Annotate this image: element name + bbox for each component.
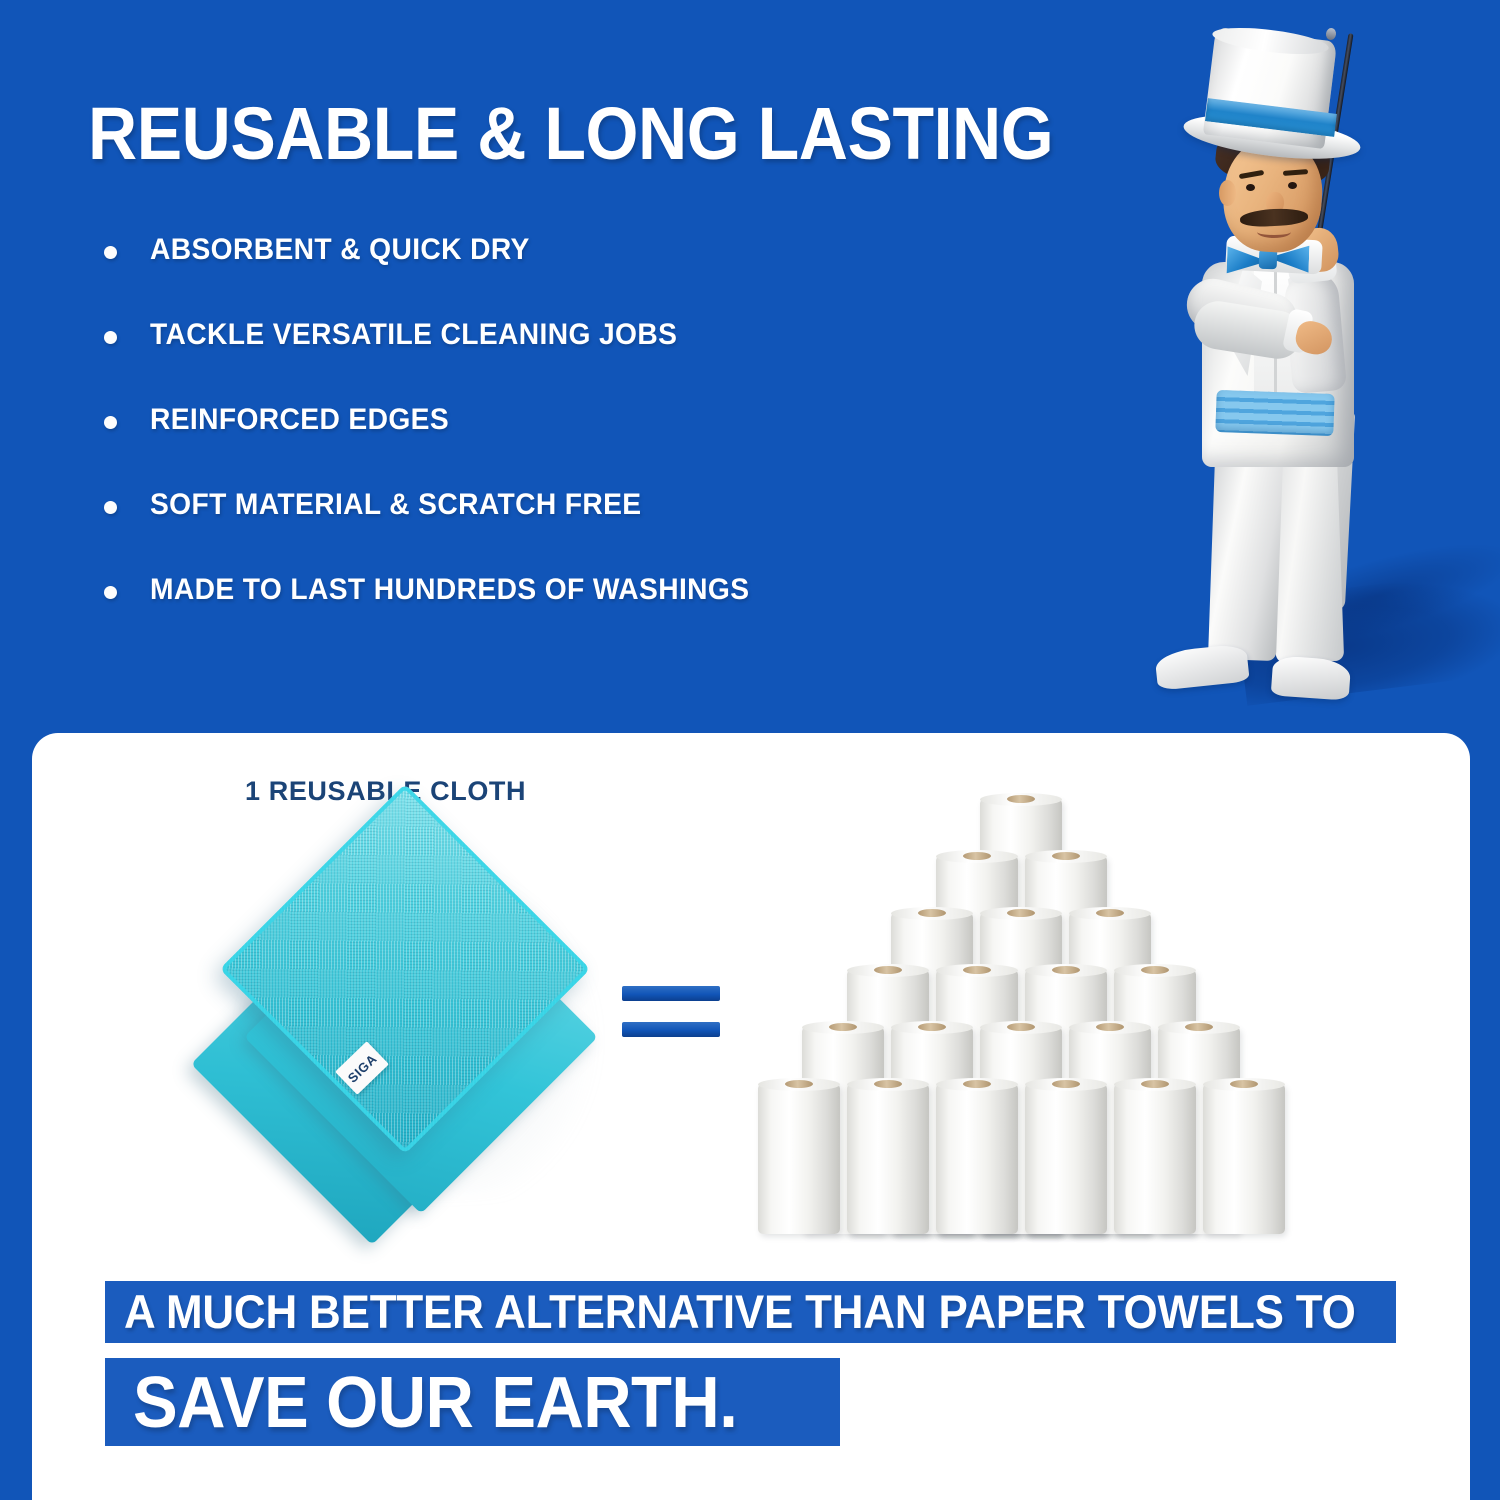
feature-item: SOFT MATERIAL & SCRATCH FREE: [96, 483, 1056, 568]
feature-label: SOFT MATERIAL & SCRATCH FREE: [150, 483, 641, 527]
feature-label: TACKLE VERSATILE CLEANING JOBS: [150, 313, 677, 357]
equals-bar-bottom: [622, 1022, 720, 1037]
feature-item: TACKLE VERSATILE CLEANING JOBS: [96, 313, 1056, 398]
banner-line-1-text: A MUCH BETTER ALTERNATIVE THAN PAPER TOW…: [124, 1284, 1356, 1340]
paper-towel-roll-core: [1052, 1080, 1080, 1088]
paper-towel-roll-core: [785, 1080, 813, 1088]
infographic-page: REUSABLE & LONG LASTING ABSORBENT & QUIC…: [0, 0, 1500, 1500]
hero-section: REUSABLE & LONG LASTING ABSORBENT & QUIC…: [0, 0, 1500, 735]
feature-label: MADE TO LAST HUNDREDS OF WASHINGS: [150, 568, 749, 612]
bullet-dot-icon: [104, 331, 117, 344]
feature-item: ABSORBENT & QUICK DRY: [96, 228, 1056, 313]
mascot-ear: [1219, 180, 1236, 206]
paper-towel-roll-core: [963, 966, 991, 974]
paper-towel-roll-core: [1230, 1080, 1258, 1088]
mascot-shoe-left: [1154, 643, 1249, 690]
blue-cummerbund: [1215, 390, 1334, 436]
paper-towel-roll-core: [1007, 1023, 1035, 1031]
paper-towel-roll-core: [1007, 909, 1035, 917]
paper-towel-roll-core: [918, 909, 946, 917]
bullet-dot-icon: [104, 586, 117, 599]
mascot-eye-left: [1246, 184, 1255, 191]
paper-towel-roll-core: [1096, 909, 1124, 917]
paper-towel-roll: [847, 1083, 929, 1234]
paper-towel-roll-core: [874, 1080, 902, 1088]
paper-towel-roll: [1114, 1083, 1196, 1234]
paper-towel-roll-core: [1096, 1023, 1124, 1031]
paper-towel-roll-core: [1141, 966, 1169, 974]
paper-towel-roll: [1025, 1083, 1107, 1234]
cane-tip-icon: [1325, 27, 1337, 40]
paper-towel-roll-core: [1052, 852, 1080, 860]
bullet-dot-icon: [104, 246, 117, 259]
paper-towel-roll-core: [829, 1023, 857, 1031]
paper-towel-pyramid: [756, 786, 1286, 1236]
bullet-dot-icon: [104, 416, 117, 429]
feature-item: MADE TO LAST HUNDREDS OF WASHINGS: [96, 568, 1056, 653]
mascot-illustration: [1120, 10, 1500, 710]
equals-sign-icon: [622, 976, 720, 1048]
banner-line-2: SAVE OUR EARTH.: [105, 1358, 840, 1446]
paper-towel-roll: [758, 1083, 840, 1234]
feature-label: REINFORCED EDGES: [150, 398, 449, 442]
page-title: REUSABLE & LONG LASTING: [88, 95, 1053, 173]
paper-towel-roll: [1203, 1083, 1285, 1234]
equals-bar-top: [622, 986, 720, 1001]
mascot-eye-right: [1288, 182, 1297, 189]
banner-line-1: A MUCH BETTER ALTERNATIVE THAN PAPER TOW…: [105, 1281, 1396, 1343]
feature-item: REINFORCED EDGES: [96, 398, 1056, 483]
paper-towel-roll-core: [963, 1080, 991, 1088]
paper-towel-roll-core: [963, 852, 991, 860]
paper-towel-roll-core: [918, 1023, 946, 1031]
bullet-dot-icon: [104, 501, 117, 514]
paper-towel-roll-core: [1141, 1080, 1169, 1088]
mascot-mouth: [1257, 226, 1291, 238]
feature-list: ABSORBENT & QUICK DRY TACKLE VERSATILE C…: [96, 228, 1056, 653]
paper-towel-roll-core: [874, 966, 902, 974]
microfiber-cloth-image: SIGA: [218, 820, 618, 1220]
paper-towel-roll-core: [1185, 1023, 1213, 1031]
paper-towel-roll-core: [1052, 966, 1080, 974]
paper-towel-roll-core: [1007, 795, 1035, 803]
feature-label: ABSORBENT & QUICK DRY: [150, 228, 530, 272]
paper-towel-roll: [936, 1083, 1018, 1234]
banner-line-2-text: SAVE OUR EARTH.: [133, 1362, 737, 1444]
